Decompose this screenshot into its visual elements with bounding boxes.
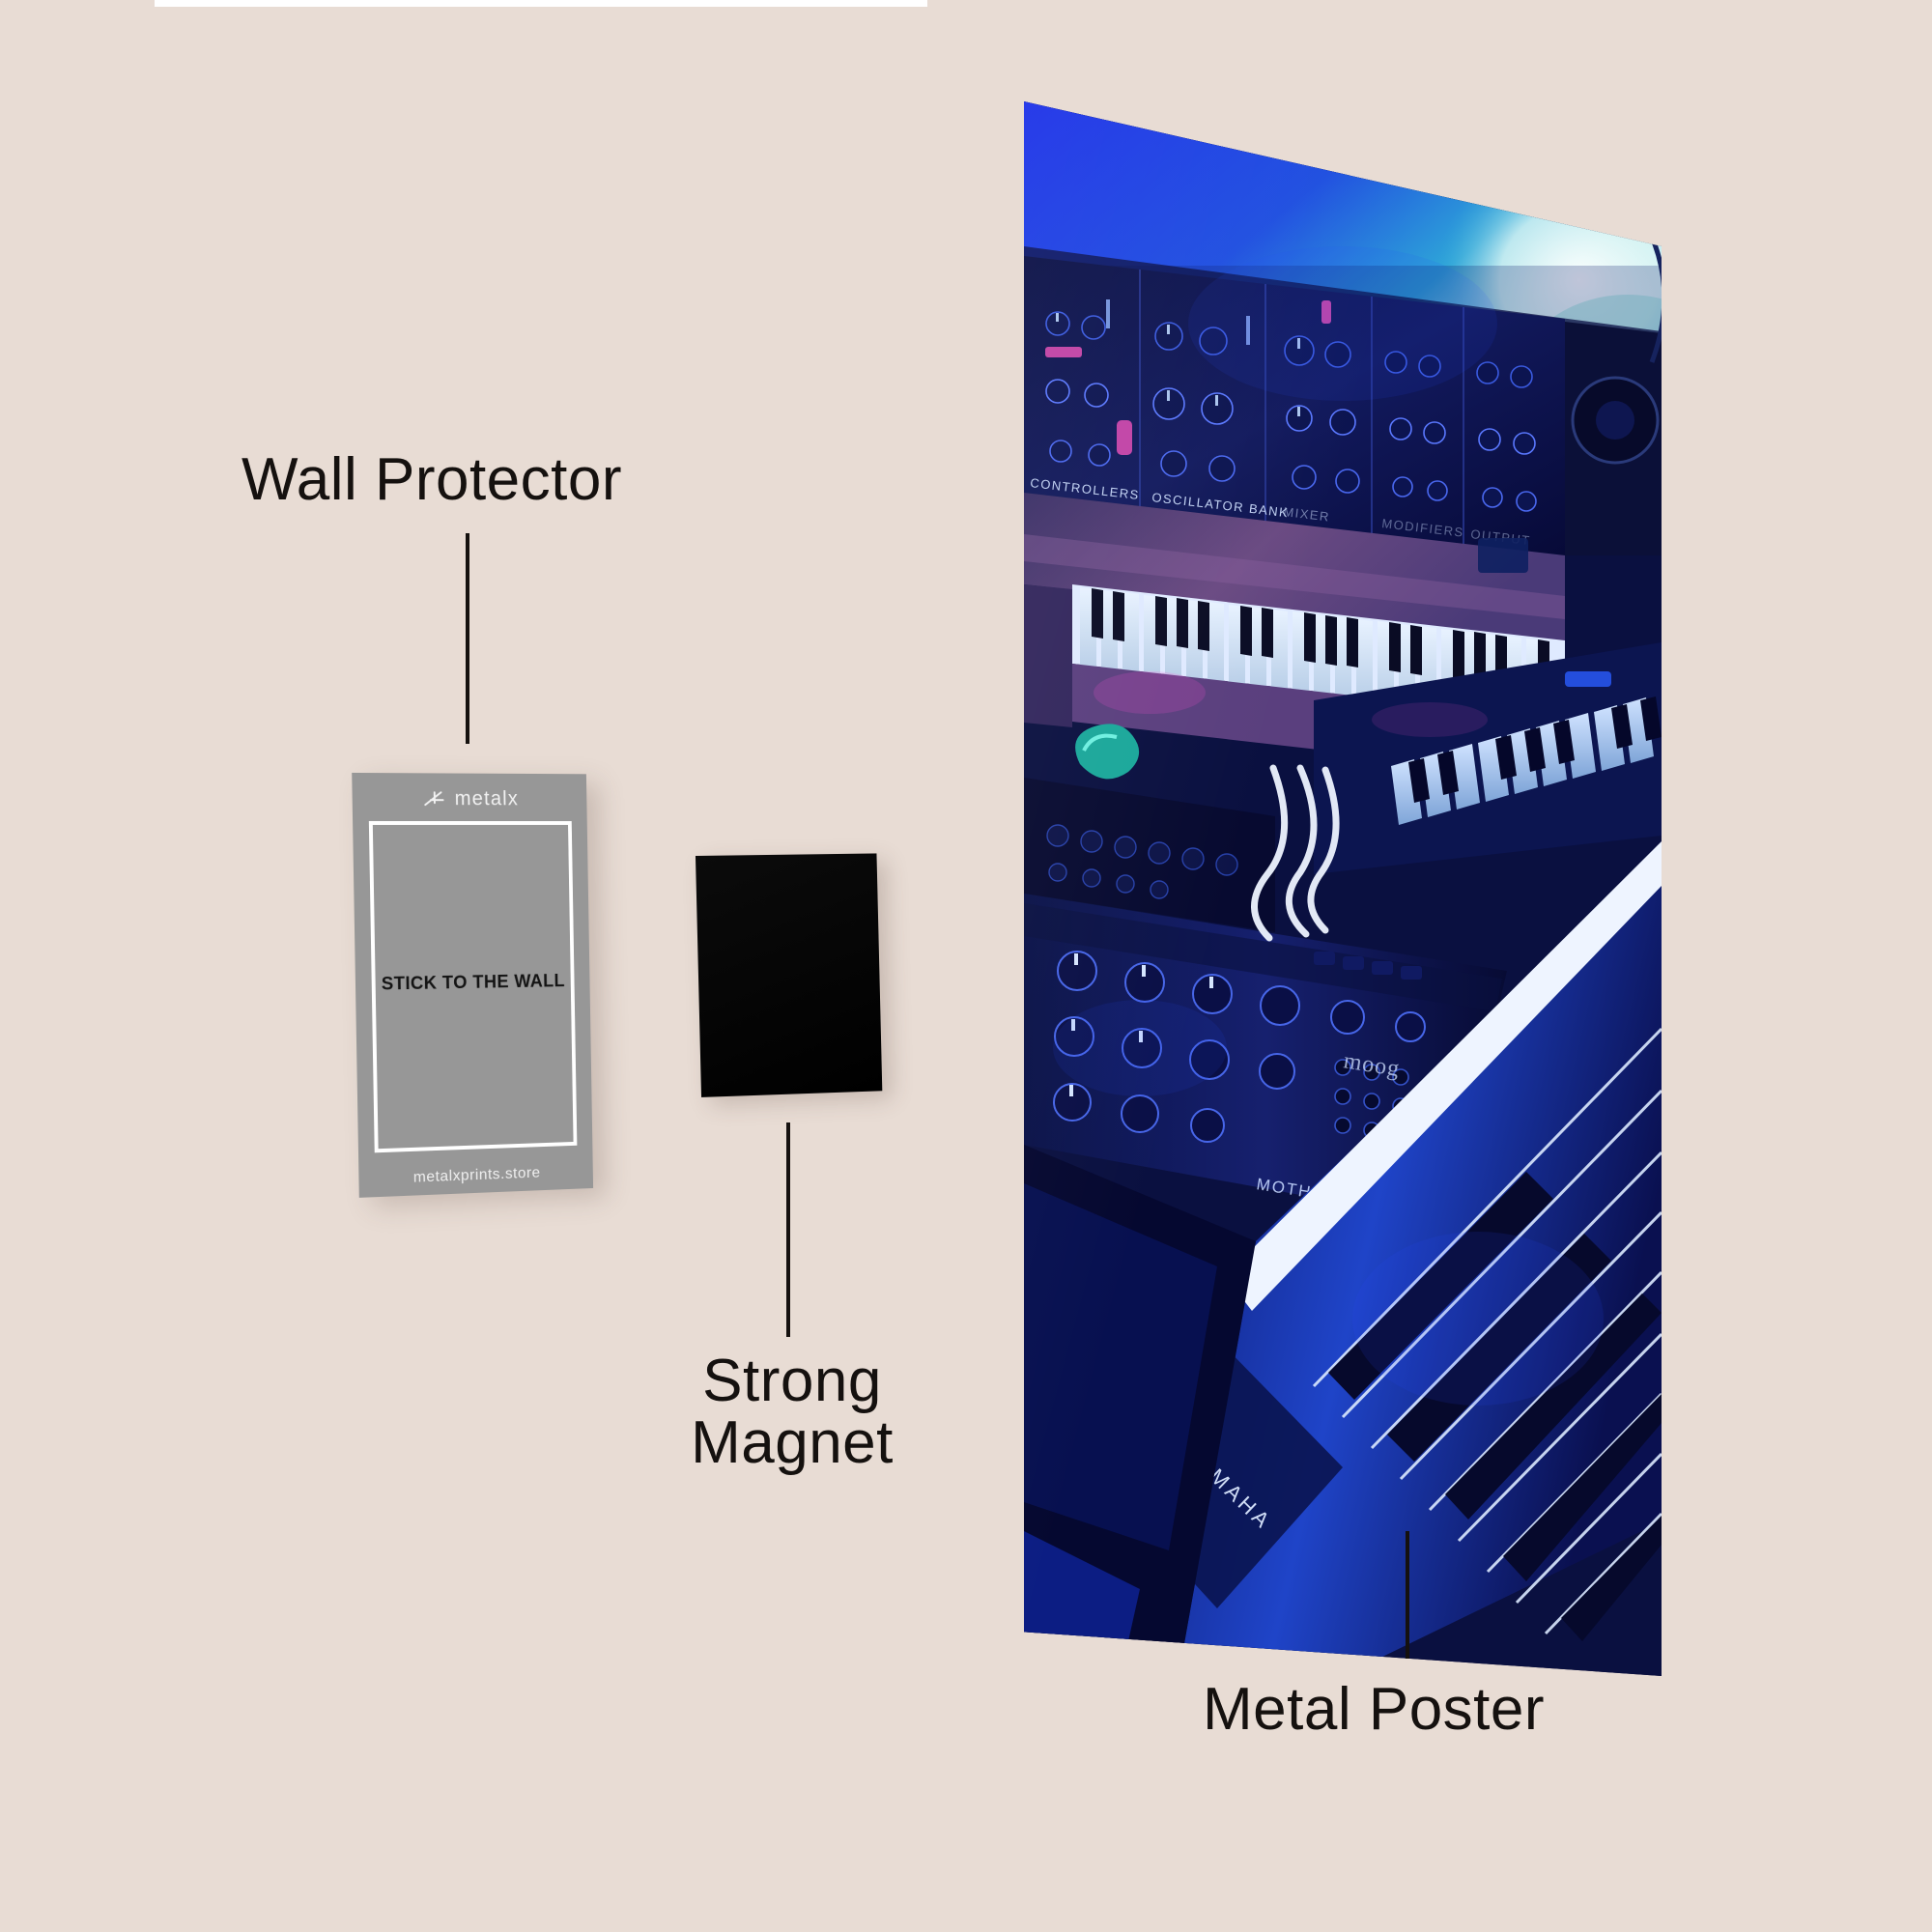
- callout-label-metal-poster: Metal Poster: [1203, 1679, 1545, 1741]
- strong-magnet-square[interactable]: [696, 853, 882, 1096]
- leader-line-wall-protector: [466, 533, 469, 744]
- callout-label-wall-protector: Wall Protector: [241, 449, 622, 511]
- card-headline: STICK TO THE WALL: [355, 971, 590, 996]
- brand-name: metalx: [454, 787, 519, 810]
- wall-protector-card[interactable]: metalx STICK TO THE WALL metalxprints.st…: [352, 773, 593, 1198]
- metal-poster-clip: CONTROLLERS OSCILLATOR BANK MIXER MODIFI…: [1024, 101, 1662, 1676]
- card-url: metalxprints.store: [358, 1163, 593, 1189]
- leader-line-strong-magnet: [786, 1122, 790, 1337]
- callout-label-strong-magnet: Strong Magnet: [667, 1350, 918, 1475]
- top-white-strip: [155, 0, 927, 7]
- metal-poster[interactable]: CONTROLLERS OSCILLATOR BANK MIXER MODIFI…: [1024, 101, 1662, 1676]
- synthesizer-photo: CONTROLLERS OSCILLATOR BANK MIXER MODIFI…: [1024, 101, 1662, 1676]
- card-logo: metalx: [352, 784, 586, 813]
- metalx-cross-icon: [423, 788, 448, 810]
- infographic-canvas: CONTROLLERS OSCILLATOR BANK MIXER MODIFI…: [0, 0, 1932, 1932]
- leader-line-metal-poster: [1406, 1531, 1409, 1659]
